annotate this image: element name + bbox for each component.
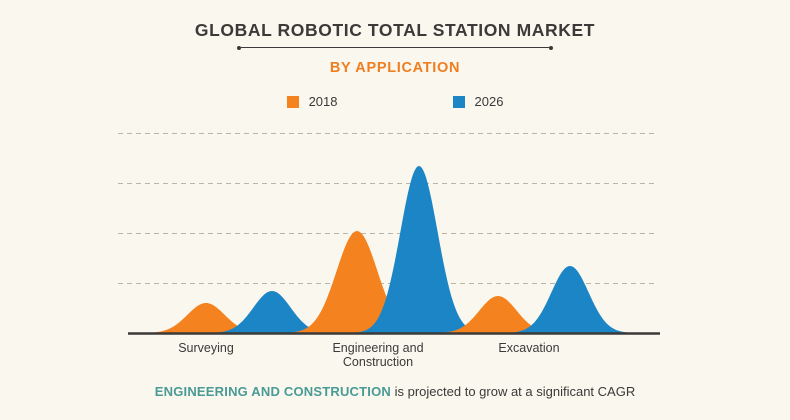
series-curves bbox=[133, 166, 644, 333]
infographic-root: GLOBAL ROBOTIC TOTAL STATION MARKET BY A… bbox=[0, 0, 790, 420]
category-axis-labels: Surveying Engineering and Construction E… bbox=[128, 341, 660, 381]
category-label-engineering-and-construction: Engineering and Construction bbox=[303, 341, 453, 369]
category-label-excavation: Excavation bbox=[454, 341, 604, 355]
gridlines bbox=[118, 134, 658, 284]
footer-highlight: ENGINEERING AND CONSTRUCTION bbox=[155, 384, 391, 399]
footer-rest: is projected to grow at a significant CA… bbox=[391, 384, 635, 399]
footer-caption: ENGINEERING AND CONSTRUCTION is projecte… bbox=[0, 384, 790, 399]
category-label-surveying: Surveying bbox=[131, 341, 281, 355]
